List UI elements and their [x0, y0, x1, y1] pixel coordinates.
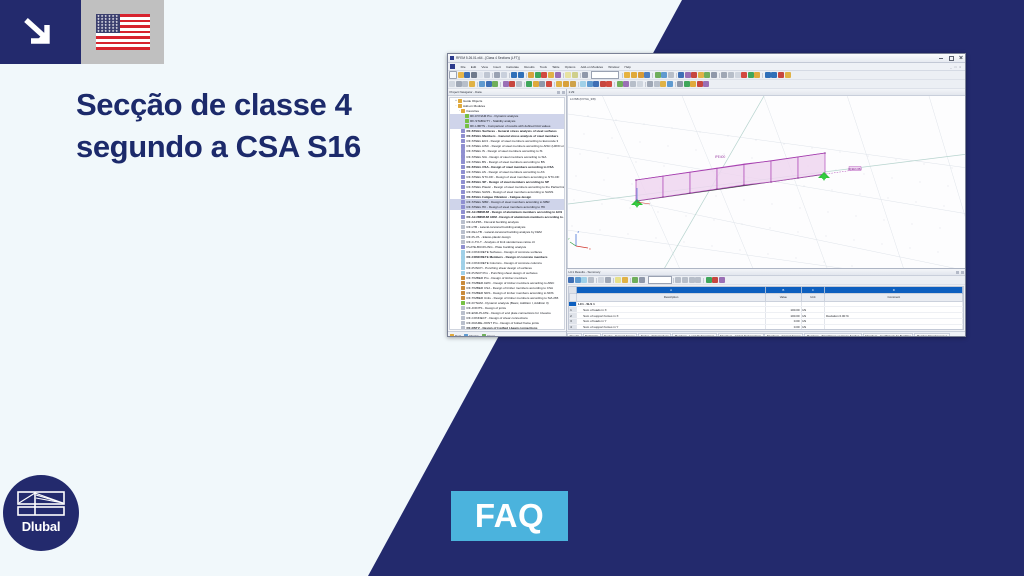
results-header-buttons[interactable]	[956, 271, 964, 274]
navigator-tree[interactable]: +Guide Objects-Add-on Modules-FavoritesR…	[450, 98, 565, 331]
toolbar-row-2[interactable]	[448, 80, 965, 89]
toolbar2-icon-member-new[interactable]	[492, 81, 498, 87]
results-pin-button[interactable]	[956, 271, 959, 274]
results-icon-nav-first[interactable]	[675, 277, 681, 283]
toolbar-icon-dim-5[interactable]	[748, 72, 754, 78]
module-icon	[461, 286, 465, 290]
menu-item-help[interactable]: Help	[622, 65, 634, 69]
toolbar2-icon-load-node[interactable]	[556, 81, 562, 87]
toolbar-icon-dim-4[interactable]	[741, 72, 747, 78]
tree-item-label: RF-STEEL SANS - Design of steel members …	[467, 190, 554, 194]
tree-item[interactable]: RF-DYNAM - Dynamic analysis (Basic, Addi…	[450, 300, 565, 305]
toolbar2-icon-node-new[interactable]	[479, 81, 485, 87]
menu-item-tools[interactable]: Tools	[537, 65, 549, 69]
toolbar-icon-lcnext[interactable]	[572, 72, 578, 78]
toolbar2-icon-hinge[interactable]	[533, 81, 539, 87]
navigator-tabs[interactable]: Data Display Views	[448, 331, 566, 337]
results-panel[interactable]: LC1 Results - Summary	[567, 268, 965, 337]
module-icon	[461, 144, 465, 148]
toolbar2-separator	[578, 82, 579, 87]
toolbar2-separator	[614, 82, 615, 87]
toolbar-icon-dim-2[interactable]	[728, 72, 734, 78]
toolbar2-icon-snap[interactable]	[647, 81, 653, 87]
views-tab-icon	[482, 334, 486, 338]
toolbar-icon-rf-2[interactable]	[771, 72, 777, 78]
tree-item-label: RF-STEEL SIA - Design of steel members a…	[467, 155, 547, 159]
toolbar2-icon-guide[interactable]	[660, 81, 666, 87]
menu-app-icon	[450, 64, 455, 69]
dlubal-frame-icon	[17, 491, 65, 517]
col-head-rownum	[569, 287, 577, 294]
tree-item-label: RF-CONCRETE Members - Design of concrete…	[467, 255, 548, 259]
application-body: Project Navigator - Data +Guide Objects-…	[448, 89, 965, 337]
module-icon	[461, 296, 465, 300]
results-tab[interactable]: Nodes - Deformations	[638, 333, 671, 338]
dlubal-logo: Dlubal	[3, 475, 79, 551]
subhead-comment: Comment	[825, 294, 963, 302]
module-icon	[461, 180, 465, 184]
results-tab[interactable]: Nodes - Support Forces	[602, 333, 638, 338]
tree-item-label: Add-on Modules	[463, 104, 485, 108]
arrow-badge	[0, 0, 81, 64]
toolbar2-icon-mesh[interactable]	[580, 81, 586, 87]
results-tab[interactable]: Summary	[583, 333, 601, 338]
tree-item-label: RF-CONCRETE Surfaces - Design of concret…	[467, 250, 543, 254]
results-icon-filter-1[interactable]	[598, 277, 604, 283]
tree-item-label: PLATE-BUCKLING - Plate buckling analysis	[467, 245, 527, 249]
col-head-c: C	[801, 287, 825, 294]
toolbar2-icon-isoline[interactable]	[630, 81, 636, 87]
module-icon	[461, 235, 465, 239]
module-icon	[461, 271, 465, 275]
toolbar-icon-sect-2[interactable]	[685, 72, 691, 78]
tree-item-label: RF-TIMBER NDS - Design of timber members…	[467, 291, 554, 295]
toolbar2-separator	[500, 82, 501, 87]
toolbar2-icon-mesh-2[interactable]	[587, 81, 593, 87]
toolbar2-icon-pan[interactable]	[456, 81, 462, 87]
toolbar-icon-calculate[interactable]	[535, 72, 541, 78]
tree-item-label: RF-TIMBER Pro - Design of timber members	[467, 276, 528, 280]
toolbar-icon-sect-6[interactable]	[711, 72, 717, 78]
results-tab[interactable]: Members - Internal Forces	[764, 333, 803, 338]
toolbar-separator	[719, 73, 720, 78]
results-icon-table-4[interactable]	[588, 277, 594, 283]
tree-item-label: RF-LIMITS - Comparison of results with d…	[470, 124, 550, 128]
module-icon	[461, 265, 465, 269]
module-icon	[461, 175, 465, 179]
toolbar-icon-new[interactable]	[449, 71, 457, 79]
toolbar-icon-dim-3[interactable]	[735, 72, 741, 78]
menu-item-results[interactable]: Results	[522, 65, 538, 69]
results-toolbar[interactable]	[567, 276, 965, 285]
module-icon	[461, 210, 465, 214]
tree-item[interactable]: RF-CONCRETE Members - Design of concrete…	[450, 255, 565, 260]
results-toolbar-separator	[703, 278, 704, 283]
tree-item-label: RF-STEEL HK - Design of steel members ac…	[467, 205, 546, 209]
faq-badge[interactable]: FAQ	[451, 491, 568, 541]
module-icon	[461, 195, 465, 199]
toolbar2-icon-isosurf[interactable]	[637, 81, 643, 87]
tree-item[interactable]: RF-STEEL AISC - Design of steel members …	[450, 144, 565, 149]
tree-item-label: RF-FRAME-JOINT Pro - Design of bolted fr…	[467, 321, 539, 325]
results-icon-edit[interactable]	[706, 277, 712, 283]
tree-item-label: RF-STEEL CSA - Design of steel members a…	[467, 165, 554, 169]
tree-item[interactable]: RF-DSTV - Design of typified I-beam conn…	[450, 326, 565, 331]
navigator-header: Project Navigator - Data	[448, 89, 566, 96]
tree-item-label: RF-STEEL Plastic - Design of steel membe…	[467, 185, 566, 189]
folder-icon	[458, 99, 462, 103]
toolbar2-icon-grid[interactable]	[654, 81, 660, 87]
tree-item[interactable]: RF-TIMBER NDS - Design of timber members…	[450, 290, 565, 295]
toolbar-icon-loads[interactable]	[548, 72, 554, 78]
tree-item-label: RF-DYNAM Pro - Dynamic analysis	[470, 114, 518, 118]
tree-item[interactable]: RF-STEEL Surfaces - General stress analy…	[450, 129, 565, 134]
headline-line-1: Secção de classe 4	[76, 84, 406, 126]
toolbar2-separator	[477, 82, 478, 87]
toolbar-icon-sect-3[interactable]	[691, 72, 697, 78]
toolbar2-icon-layer[interactable]	[667, 81, 673, 87]
module-icon	[461, 240, 465, 244]
results-icon-filter-2[interactable]	[605, 277, 611, 283]
results-column-letters: A B C D	[569, 287, 963, 294]
menu-item-calculate[interactable]: Calculate	[504, 65, 522, 69]
toolbar-icon-dim-6[interactable]	[754, 72, 760, 78]
toolbar2-icon-zoom[interactable]	[462, 81, 468, 87]
navigator-tab-views-label: Views	[487, 334, 495, 338]
module-icon	[465, 124, 469, 128]
toolbar-separator	[652, 73, 653, 78]
tree-item-label: RF-ALUMINIUM ADM - Design of aluminium m…	[467, 215, 566, 219]
module-icon	[461, 276, 465, 280]
toolbar2-icon-misc-2[interactable]	[684, 81, 690, 87]
menu-bar[interactable]: File Edit View Insert Calculate Results …	[448, 63, 965, 71]
toolbar2-separator	[524, 82, 525, 87]
module-icon	[461, 170, 465, 174]
results-rows[interactable]: LC1 - SLS 11Sum of loads in X100.00kN2Su…	[569, 301, 963, 330]
flag-badge: ★★★★★★★★★★★★★★★★★★★★★★★★★★★★★★★★★★★★★★★★…	[81, 0, 164, 64]
arrow-down-right-icon	[22, 17, 60, 49]
window-titlebar: RFEM 5.26.01.x64 - [Class 4 Sections (LF…	[448, 54, 965, 63]
module-icon	[461, 245, 465, 249]
navigator-tree-scroll[interactable]: +Guide Objects-Add-on Modules-FavoritesR…	[449, 97, 566, 331]
navigator-tab-data-label: Data	[455, 334, 461, 338]
toolbar2-icon-line-new[interactable]	[486, 81, 492, 87]
module-icon	[461, 321, 465, 325]
svg-text:Y: Y	[568, 237, 570, 241]
tree-item-label: RF-DSTV - Design of typified I-beam conn…	[467, 326, 538, 330]
tree-item[interactable]: RF-STEEL Plastic - Design of steel membe…	[450, 184, 565, 189]
load-case-combo[interactable]	[591, 71, 619, 79]
tree-item[interactable]: RF-STEEL SANS - Design of steel members …	[450, 189, 565, 194]
results-grid: A B C D Description Value Unit Comment	[569, 287, 964, 331]
tree-item[interactable]: RF-STEEL CSA - Design of steel members a…	[450, 164, 565, 169]
results-icon-lc-yellow[interactable]	[615, 277, 621, 283]
results-icon-table-2[interactable]	[575, 277, 581, 283]
toolbar-icon-node[interactable]	[668, 72, 674, 78]
results-toolbar-separator	[673, 278, 674, 283]
results-cell-input[interactable]	[648, 276, 672, 284]
results-toolbar-separator	[630, 278, 631, 283]
maximize-button[interactable]	[948, 55, 953, 60]
menu-item-file[interactable]: File	[458, 65, 468, 69]
tree-item[interactable]: RF-TIMBER AWC - Design of timber members…	[450, 280, 565, 285]
toolbar-separator	[676, 73, 677, 78]
toolbar-icon-person[interactable]	[644, 72, 650, 78]
toolbar2-separator	[554, 82, 555, 87]
toolbar2-icon-results-1[interactable]	[600, 81, 606, 87]
module-icon	[461, 311, 465, 315]
tree-item-label: RF-PL-PL - Elasto-plastic design	[467, 235, 511, 239]
navigator-tab-display[interactable]: Display	[464, 334, 479, 338]
navigator-close-button[interactable]	[562, 91, 565, 94]
tree-item-label: RF-ALUMINIUM - Design of aluminium membe…	[467, 210, 562, 214]
tree-item-label: Favorites	[467, 109, 480, 113]
toolbar-icon-zoomall[interactable]	[582, 72, 588, 78]
mdi-window-controls[interactable]: _ □ ×	[950, 65, 962, 69]
toolbar-icon-rf-4[interactable]	[785, 72, 791, 78]
toolbar-icon-view-xy[interactable]	[631, 72, 637, 78]
tree-item[interactable]: RF-TIMBER Units - Design of timber membe…	[450, 295, 565, 300]
results-icon-table-1[interactable]	[568, 277, 574, 283]
menu-item-addon-modules[interactable]: Add-on Modules	[578, 65, 606, 69]
toolbar-icon-copy[interactable]	[501, 72, 507, 78]
toolbar2-separator	[675, 82, 676, 87]
toolbar-icon-view-xz[interactable]	[638, 72, 644, 78]
toolbar2-icon-surface-new[interactable]	[503, 81, 509, 87]
app-icon	[450, 56, 454, 60]
module-icon	[461, 165, 465, 169]
col-head-d: D	[825, 287, 963, 294]
module-icon	[461, 200, 465, 204]
module-icon	[461, 291, 465, 295]
tree-item[interactable]: RF-TIMBER CSA - Design of timber members…	[450, 285, 565, 290]
tree-item-label: RF-STEEL AISC - Design of steel members …	[467, 144, 566, 148]
module-icon	[461, 205, 465, 209]
brand-name: Dlubal	[3, 519, 79, 534]
rfem-application-window[interactable]: RFEM 5.26.01.x64 - [Class 4 Sections (LF…	[447, 53, 966, 337]
toolbar-icon-sect-4[interactable]	[698, 72, 704, 78]
results-close-button[interactable]	[961, 271, 964, 274]
toolbar2-icon-opening[interactable]	[516, 81, 522, 87]
navigator-header-buttons[interactable]	[557, 91, 565, 94]
results-column-titles: Description Value Unit Comment	[569, 294, 963, 302]
subhead-blank	[569, 294, 577, 302]
toolbar2-icon-results-2[interactable]	[606, 81, 612, 87]
menu-item-table[interactable]: Table	[550, 65, 563, 69]
tree-item-label: RF-STEEL Surfaces - General stress analy…	[467, 129, 557, 133]
tree-item[interactable]: RF-ALUMINIUM - Design of aluminium membe…	[450, 210, 565, 215]
toolbar2-icon-mesh-3[interactable]	[593, 81, 599, 87]
module-icon	[461, 260, 465, 264]
results-tab[interactable]: Members - Coefficients for Buckling	[863, 333, 914, 338]
toolbar2-icon-misc-5[interactable]	[703, 81, 709, 87]
close-button[interactable]	[958, 55, 963, 60]
toolbar-icon-member[interactable]	[661, 72, 667, 78]
tree-item-label: RF-STEEL AS - Design of steel members ac…	[467, 170, 545, 174]
results-tab[interactable]: Members - Global Deformations	[718, 333, 764, 338]
tree-item-label: RF-LTB - Lateral-torsional buckling anal…	[467, 225, 526, 229]
results-icon-lc-orange[interactable]	[622, 277, 628, 283]
module-icon	[465, 119, 469, 123]
tree-item-label: RF-CONCRETE Columns - Design of concrete…	[467, 261, 542, 265]
subhead-unit: Unit	[801, 294, 825, 302]
toolbar-icon-printout[interactable]	[484, 72, 490, 78]
module-icon	[461, 306, 465, 310]
subhead-description: Description	[577, 294, 766, 302]
tree-item-label: RF-KAPPA - Flexural buckling analysis	[467, 220, 519, 224]
results-icon-export[interactable]	[632, 277, 638, 283]
module-icon	[465, 114, 469, 118]
toolbar-separator	[622, 73, 623, 78]
results-tab-strip[interactable]: ResultsSummaryNodes - Support ForcesNode…	[567, 331, 965, 337]
tree-item-label: RF-TIMBER CSA - Design of timber members…	[467, 286, 554, 290]
toolbar-icon-results[interactable]	[541, 72, 547, 78]
tree-item-label: RF-PUNCH - Punching shear design of surf…	[467, 266, 532, 270]
toolbar-icon-rf-1[interactable]	[765, 72, 771, 78]
results-tab[interactable]: Member Slendernesses	[914, 333, 950, 338]
tree-item-label: RF-STEEL Fatigue Vibration - Fatigue des…	[467, 195, 532, 199]
tree-item-label: RF-C-TO-T - Analysis of limit slendernes…	[467, 240, 535, 244]
module-icon	[461, 190, 465, 194]
tree-item-label: RF-STEEL Members - General stress analys…	[467, 134, 559, 138]
module-icon	[461, 230, 465, 234]
toolbar2-icon-load-line[interactable]	[563, 81, 569, 87]
results-icon-nav-last[interactable]	[695, 277, 701, 283]
navigator-tab-data[interactable]: Data	[450, 334, 461, 338]
toolbar2-icon-misc-3[interactable]	[690, 81, 696, 87]
tree-item[interactable]: RF-STEEL Members - General stress analys…	[450, 134, 565, 139]
menu-item-options[interactable]: Options	[562, 65, 578, 69]
toolbar2-icon-stress[interactable]	[623, 81, 629, 87]
results-icon-nav-next[interactable]	[689, 277, 695, 283]
model-viewport-3d[interactable]: LC/SB (DYNA_3/8)	[567, 96, 965, 269]
module-icon	[461, 255, 465, 259]
tree-item[interactable]: RF-STEEL NBR - Design of steel members a…	[450, 199, 565, 204]
module-icon	[461, 159, 465, 163]
toolbar-icon-cut[interactable]	[494, 72, 500, 78]
tree-item[interactable]: RF-ALUMINIUM ADM - Design of aluminium m…	[450, 215, 565, 220]
grid-dots	[572, 115, 953, 268]
project-navigator[interactable]: Project Navigator - Data +Guide Objects-…	[448, 89, 567, 337]
toolbar-icon-dim-1[interactable]	[721, 72, 727, 78]
toolbar-icon-redo[interactable]	[518, 72, 524, 78]
toolbar-icon-view-iso[interactable]	[624, 72, 630, 78]
toolbar-separator	[509, 73, 510, 78]
col-head-b: B	[766, 287, 801, 294]
tree-item-label: RF-STEEL NBR - Design of steel members a…	[467, 200, 550, 204]
module-icon	[461, 149, 465, 153]
subhead-value: Value	[766, 294, 801, 302]
data-tab-icon	[450, 334, 454, 338]
navigator-pin-button[interactable]	[557, 91, 560, 94]
toolbar-icon-print[interactable]	[471, 72, 477, 78]
toolbar-icon-combos[interactable]	[555, 72, 561, 78]
axis-triad: Z X Y	[568, 230, 591, 251]
toolbar2-icon-material[interactable]	[546, 81, 552, 87]
tree-item[interactable]: RF-STEEL NTC-DF - Design of steel member…	[450, 174, 565, 179]
results-toolbar-separator	[613, 278, 614, 283]
minimize-button[interactable]	[938, 55, 943, 60]
toolbar2-icon-load-surf[interactable]	[570, 81, 576, 87]
toolbar2-icon-select[interactable]	[449, 81, 455, 87]
support-label: RFEM-OBJ	[848, 166, 862, 170]
toolbar-icon-surface[interactable]	[655, 72, 661, 78]
results-header: LC1 Results - Summary	[567, 269, 965, 276]
module-icon	[461, 215, 465, 219]
toolbar2-separator	[645, 82, 646, 87]
tree-item[interactable]: RF-STEEL SP - Design of steel members ac…	[450, 179, 565, 184]
toolbar-icon-sect-5[interactable]	[704, 72, 710, 78]
tree-item-label: RF-STEEL EC3 - Design of steel members a…	[467, 139, 559, 143]
toolbar-icon-lcselect[interactable]	[565, 72, 571, 78]
headline-line-2: segundo a CSA S16	[76, 126, 406, 168]
menu-item-window[interactable]: Window	[606, 65, 622, 69]
window-controls[interactable]	[938, 55, 963, 60]
module-icon	[461, 134, 465, 138]
navigator-tab-views[interactable]: Views	[482, 334, 495, 338]
results-tab[interactable]: Members - Total Stress on Cross-Section	[804, 333, 862, 338]
toolbar-icon-render[interactable]	[528, 72, 534, 78]
toolbar-separator	[580, 73, 581, 78]
results-icon-table-3[interactable]	[581, 277, 587, 283]
toolbar-icon-rf-3[interactable]	[778, 72, 784, 78]
toolbar-icon-preview[interactable]	[477, 72, 483, 78]
results-title: LC1 Results - Summary	[569, 270, 601, 274]
toolbar-icon-sect-1[interactable]	[678, 72, 684, 78]
toolbar2-icon-misc-1[interactable]	[677, 81, 683, 87]
results-tab[interactable]: Members - Local Deformations	[672, 333, 717, 338]
results-table[interactable]: A B C D Description Value Unit Comment	[568, 286, 965, 331]
module-icon	[461, 326, 465, 330]
results-icon-delete[interactable]	[712, 277, 718, 283]
toolbar-separator	[762, 73, 763, 78]
results-tab[interactable]: Results	[567, 333, 582, 338]
menu-item-view[interactable]: View	[479, 65, 491, 69]
navigator-tab-display-label: Display	[469, 334, 479, 338]
toolbar2-icon-misc-4[interactable]	[697, 81, 703, 87]
toolbar-row-1[interactable]	[448, 71, 965, 80]
toolbar-icon-open[interactable]	[458, 72, 464, 78]
toolbar2-icon-solid-new[interactable]	[509, 81, 515, 87]
toolbar2-icon-deform[interactable]	[617, 81, 623, 87]
results-icon-print[interactable]	[639, 277, 645, 283]
tree-item-label: RF-STEEL IS - Design of steel members ac…	[467, 149, 543, 153]
menu-item-edit[interactable]: Edit	[468, 65, 479, 69]
toolbar2-icon-rotate[interactable]	[469, 81, 475, 87]
module-icon	[461, 129, 465, 133]
faq-label: FAQ	[475, 497, 544, 535]
module-icon	[461, 281, 465, 285]
tree-item-label: RF-FE-LTB - Lateral-torsional buckling a…	[467, 230, 542, 234]
module-icon	[461, 225, 465, 229]
menu-item-insert[interactable]: Insert	[491, 65, 504, 69]
toolbar-icon-save[interactable]	[464, 72, 470, 78]
tree-item[interactable]: RF-LIMITS - Comparison of results with d…	[450, 124, 565, 129]
window-title: RFEM 5.26.01.x64 - [Class 4 Sections (LF…	[456, 56, 520, 60]
tree-item-label: RF-TIMBER AWC - Design of timber members…	[467, 281, 555, 285]
folder-icon	[458, 104, 462, 108]
tree-item[interactable]: RF-STEEL EC3 - Design of steel members a…	[450, 139, 565, 144]
results-icon-nav-prev[interactable]	[682, 277, 688, 283]
model-geometry: IPE400	[568, 96, 965, 269]
navigator-title: Project Navigator - Data	[450, 90, 482, 94]
toolbar2-icon-crosssec[interactable]	[539, 81, 545, 87]
toolbar2-icon-support[interactable]	[526, 81, 532, 87]
module-icon	[461, 139, 465, 143]
toolbar-icon-undo[interactable]	[511, 72, 517, 78]
tree-item[interactable]: RF-END-PLATE - Design of end plate conne…	[450, 310, 565, 315]
results-icon-settings[interactable]	[719, 277, 725, 283]
